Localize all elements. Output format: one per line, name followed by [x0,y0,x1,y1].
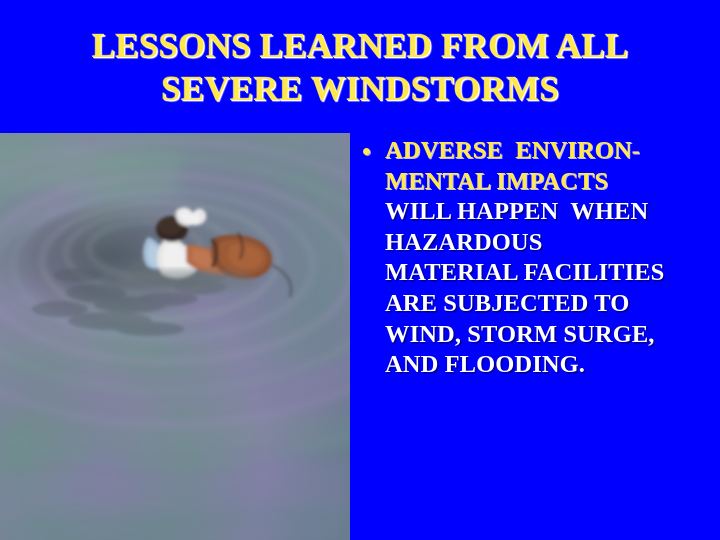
bullet-line-4: HAZARDOUS [385,228,718,259]
flood-photo [0,133,350,540]
bullet-line-5: MATERIAL FACILITIES [385,258,718,289]
bullet-line-1: ADVERSE ENVIRON- [385,136,718,167]
bullet-line-7: WIND, STORM SURGE, [385,320,718,351]
bullet-text-block: ADVERSE ENVIRON- MENTAL IMPACTS WILL HAP… [358,136,718,381]
bullet-dot-icon [363,148,370,155]
bullet-line-2: MENTAL IMPACTS [385,167,718,198]
slide-title: LESSONS LEARNED FROM ALL SEVERE WINDSTOR… [0,24,720,110]
flood-photo-graphic [0,133,350,540]
bullet-line-3: WILL HAPPEN WHEN [385,197,718,228]
slide-canvas: LESSONS LEARNED FROM ALL SEVERE WINDSTOR… [0,0,720,540]
bullet-line-6: ARE SUBJECTED TO [385,289,718,320]
bullet-item: ADVERSE ENVIRON- MENTAL IMPACTS WILL HAP… [358,136,718,381]
bullet-line-8: AND FLOODING. [385,350,718,381]
